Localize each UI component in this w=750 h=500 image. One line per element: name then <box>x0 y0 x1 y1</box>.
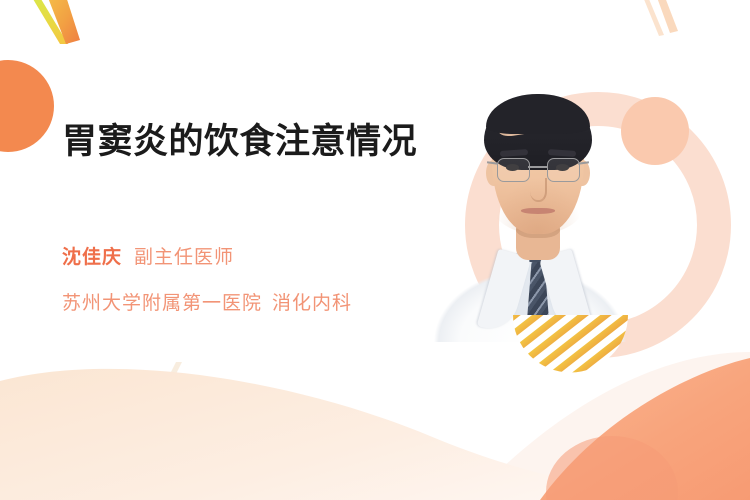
foreground-decoration-layer <box>0 0 750 500</box>
doctor-intro-card: 胃窦炎的饮食注意情况 沈佳庆副主任医师 苏州大学附属第一医院消化内科 <box>0 0 750 500</box>
